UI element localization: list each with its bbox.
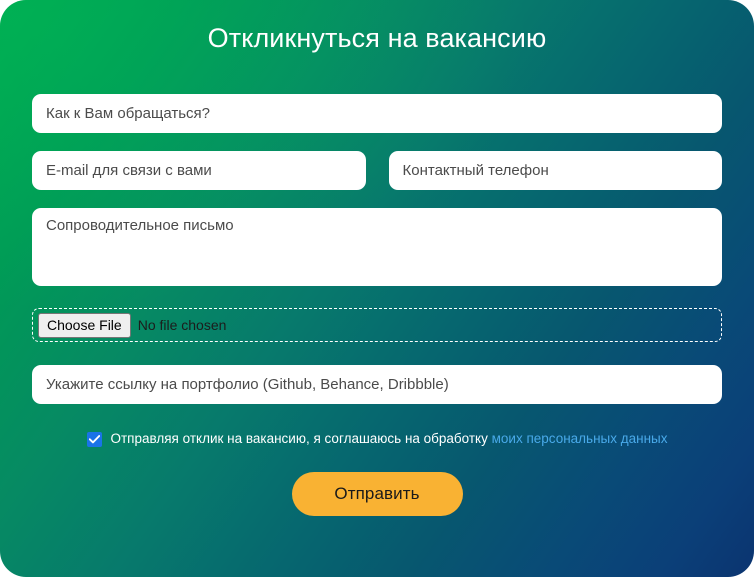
consent-checkbox[interactable] [87, 432, 102, 447]
file-upload-dropzone[interactable]: Choose File No file chosen [32, 308, 722, 342]
personal-data-link[interactable]: моих персональных данных [492, 431, 668, 446]
phone-input[interactable] [389, 151, 723, 190]
file-upload-row: Choose File No file chosen [32, 308, 722, 342]
cover-letter-textarea[interactable] [32, 208, 722, 286]
portfolio-field-row [32, 365, 722, 404]
choose-file-button[interactable]: Choose File [38, 313, 131, 338]
file-status-label: No file chosen [138, 317, 227, 333]
submit-button[interactable]: Отправить [292, 472, 463, 516]
contacts-field-row [32, 151, 722, 190]
vacancy-application-card: Откликнуться на вакансию Choose File No … [0, 0, 754, 577]
page-title: Откликнуться на вакансию [32, 0, 722, 54]
consent-row: Отправляя отклик на вакансию, я соглашаю… [32, 431, 722, 447]
cover-letter-row [32, 208, 722, 286]
name-field-row [32, 94, 722, 133]
submit-row: Отправить [32, 472, 722, 516]
consent-text-label: Отправляя отклик на вакансию, я соглашаю… [111, 431, 488, 446]
checkmark-icon [89, 435, 100, 444]
consent-text: Отправляя отклик на вакансию, я соглашаю… [111, 431, 668, 447]
card-content: Откликнуться на вакансию Choose File No … [0, 0, 754, 577]
portfolio-input[interactable] [32, 365, 722, 404]
file-input-control[interactable]: Choose File No file chosen [38, 313, 226, 338]
name-input[interactable] [32, 94, 722, 133]
email-input[interactable] [32, 151, 366, 190]
